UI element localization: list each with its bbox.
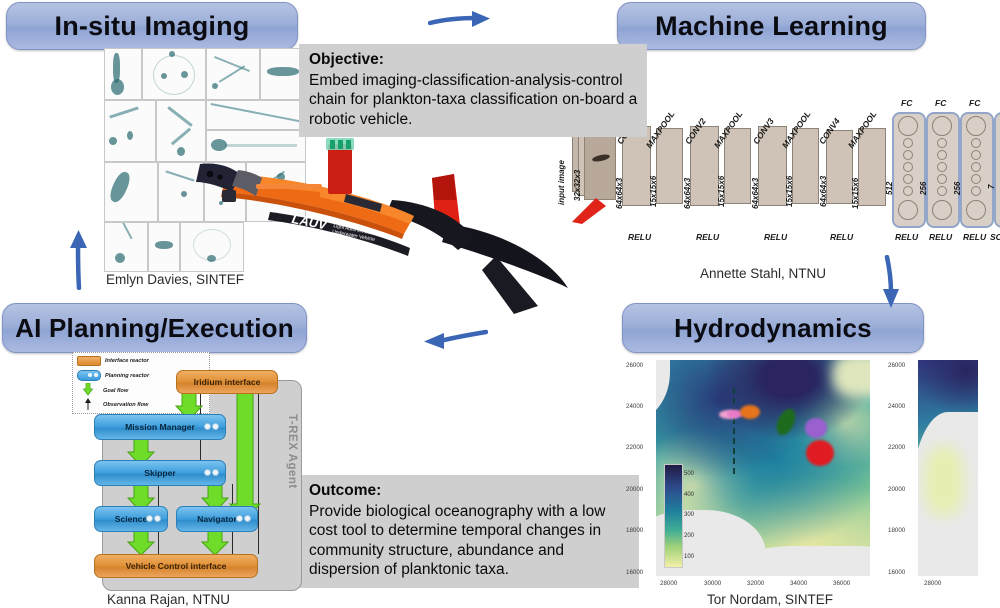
cnn-fc-units-2: 256 xyxy=(919,182,928,195)
caption-machine-learning: Annette Stahl, NTNU xyxy=(700,266,826,281)
reactor-status-dots-icon xyxy=(203,468,219,478)
cnn-block-maxpool1 xyxy=(656,128,683,204)
banner-in-situ-imaging[interactable]: In-situ Imaging xyxy=(6,2,298,50)
trex-node-navigator[interactable]: Navigator xyxy=(176,506,258,532)
cnn-relu-label-3: RELU xyxy=(764,232,787,242)
cnn-dims-conv4: 64x64x3 xyxy=(819,176,828,207)
cnn-fc-units-3: 256 xyxy=(953,182,962,195)
transect-dashed-line xyxy=(733,388,735,474)
trex-node-label: Navigator xyxy=(197,514,237,524)
particle-cluster-orange xyxy=(740,405,760,419)
cnn-input-connector-icon xyxy=(566,192,610,226)
cnn-fc-top-label-3: FC xyxy=(969,98,980,108)
x-tick-label: 34000 xyxy=(790,580,807,587)
cnn-dims-maxpool3: 15x15x6 xyxy=(785,176,794,207)
y-tick-label: 18000 xyxy=(626,527,643,534)
reactor-status-dots-icon xyxy=(235,514,251,524)
plankton-thumbnail xyxy=(104,162,158,222)
reactor-status-dots-icon xyxy=(203,422,219,432)
colorbar xyxy=(664,464,683,568)
cnn-input-image-label: input image xyxy=(557,160,566,205)
cnn-fc-activation-3: RELU xyxy=(963,232,986,242)
cnn-fc-units-1: 512 xyxy=(885,182,894,195)
y-tick-label-side: 22000 xyxy=(888,444,905,451)
objective-heading: Objective: xyxy=(309,50,639,70)
colorbar-tick-label: 200 xyxy=(684,533,694,539)
y-tick-label-side: 26000 xyxy=(888,362,905,369)
plankton-thumbnail xyxy=(206,48,260,100)
x-tick-label: 30000 xyxy=(704,580,721,587)
cnn-relu-label-4: RELU xyxy=(830,232,853,242)
particle-cluster-purple xyxy=(805,418,827,438)
colorbar-tick-label: 400 xyxy=(684,492,694,498)
cnn-fc-top-label-1: FC xyxy=(901,98,912,108)
cnn-fc-activation-1: RELU xyxy=(895,232,918,242)
caption-hydrodynamics: Tor Nordam, SINTEF xyxy=(707,592,833,607)
main-map-heatmap xyxy=(656,360,870,576)
cnn-block-maxpool2 xyxy=(724,128,751,204)
plankton-thumbnail xyxy=(148,222,180,272)
x-tick-label: 36000 xyxy=(833,580,850,587)
reactor-status-dots-icon xyxy=(145,514,161,524)
cnn-block-maxpool3 xyxy=(792,128,819,204)
arrow-up-icon xyxy=(66,228,94,295)
cnn-fc-units-4: 7 xyxy=(987,185,996,189)
cnn-input-image xyxy=(584,132,616,200)
plankton-thumbnail xyxy=(104,100,156,162)
y-tick-label: 16000 xyxy=(626,569,643,576)
cnn-fc-activation-4: SOFTMAX xyxy=(990,232,1000,242)
trex-agent-diagram: T-REX Agent Interface reactor Planning r… xyxy=(72,352,300,589)
banner-in-situ-imaging-label: In-situ Imaging xyxy=(55,11,250,42)
cnn-fc-activation-2: RELU xyxy=(929,232,952,242)
cnn-relu-label-2: RELU xyxy=(696,232,719,242)
y-tick-label-side: 16000 xyxy=(888,569,905,576)
cnn-dims-conv1: 64x64x3 xyxy=(615,178,624,209)
hydrodynamics-plot: 26000 24000 22000 20000 18000 16000 500 … xyxy=(624,356,1000,588)
colorbar-tick-label: 300 xyxy=(684,512,694,518)
banner-machine-learning-label: Machine Learning xyxy=(655,11,888,42)
cnn-fc-top-label-2: FC xyxy=(935,98,946,108)
colorbar-tick-label: 100 xyxy=(684,554,694,560)
trex-node-label: Skipper xyxy=(144,468,176,478)
cnn-dims-conv2: 64x64x3 xyxy=(683,178,692,209)
trex-node-mission-manager[interactable]: Mission Manager xyxy=(94,414,226,440)
objective-body: Embed imaging-classification-analysis-co… xyxy=(309,71,639,130)
trex-node-label: Mission Manager xyxy=(125,422,195,432)
cnn-relu-label-1: RELU xyxy=(628,232,651,242)
trex-node-vehicle-control-interface[interactable]: Vehicle Control interface xyxy=(94,554,258,578)
y-tick-label-side: 18000 xyxy=(888,527,905,534)
banner-hydrodynamics-label: Hydrodynamics xyxy=(674,313,872,344)
cnn-block-maxpool4 xyxy=(858,128,886,206)
trex-node-label: Vehicle Control interface xyxy=(126,561,227,571)
x-tick-label: 32000 xyxy=(747,580,764,587)
y-tick-label: 26000 xyxy=(626,362,643,369)
y-tick-label-side: 20000 xyxy=(888,486,905,493)
y-tick-label: 24000 xyxy=(626,403,643,410)
outcome-body: Provide biological oceanography with a l… xyxy=(309,502,631,580)
banner-machine-learning[interactable]: Machine Learning xyxy=(617,2,926,50)
plankton-thumbnail xyxy=(206,100,306,130)
objective-callout: Objective: Embed imaging-classification-… xyxy=(299,44,647,137)
cnn-dims-conv3: 64x64x3 xyxy=(751,178,760,209)
particle-cluster-red xyxy=(806,440,834,466)
cnn-dims-maxpool4: 15x15x6 xyxy=(851,178,860,209)
arrow-down-icon xyxy=(875,255,903,316)
arrow-right-icon xyxy=(428,8,494,41)
plankton-thumbnail xyxy=(142,48,206,100)
outcome-callout: Outcome: Provide biological oceanography… xyxy=(299,475,639,588)
y-tick-label: 22000 xyxy=(626,444,643,451)
y-tick-label: 20000 xyxy=(626,486,643,493)
colorbar-tick-label: 500 xyxy=(684,471,694,477)
trex-node-iridium-interface[interactable]: Iridium interface xyxy=(176,370,278,394)
caption-in-situ-imaging: Emlyn Davies, SINTEF xyxy=(106,272,244,287)
plankton-thumbnail xyxy=(104,48,142,100)
plankton-thumbnail xyxy=(104,222,148,272)
trex-node-label: Iridium interface xyxy=(194,377,261,387)
side-map-heatmap xyxy=(918,360,978,576)
y-tick-label-side: 24000 xyxy=(888,403,905,410)
cnn-dims-maxpool2: 15x15x6 xyxy=(717,176,726,207)
cnn-dims-maxpool1: 15x15x6 xyxy=(649,176,658,207)
trex-node-science[interactable]: Science xyxy=(94,506,168,532)
x-tick-label-side: 28000 xyxy=(924,580,941,587)
x-tick-label: 28000 xyxy=(660,580,677,587)
caption-ai-planning: Kanna Rajan, NTNU xyxy=(107,592,230,607)
trex-node-label: Science xyxy=(115,514,148,524)
outcome-heading: Outcome: xyxy=(309,481,631,501)
trex-node-skipper[interactable]: Skipper xyxy=(94,460,226,486)
